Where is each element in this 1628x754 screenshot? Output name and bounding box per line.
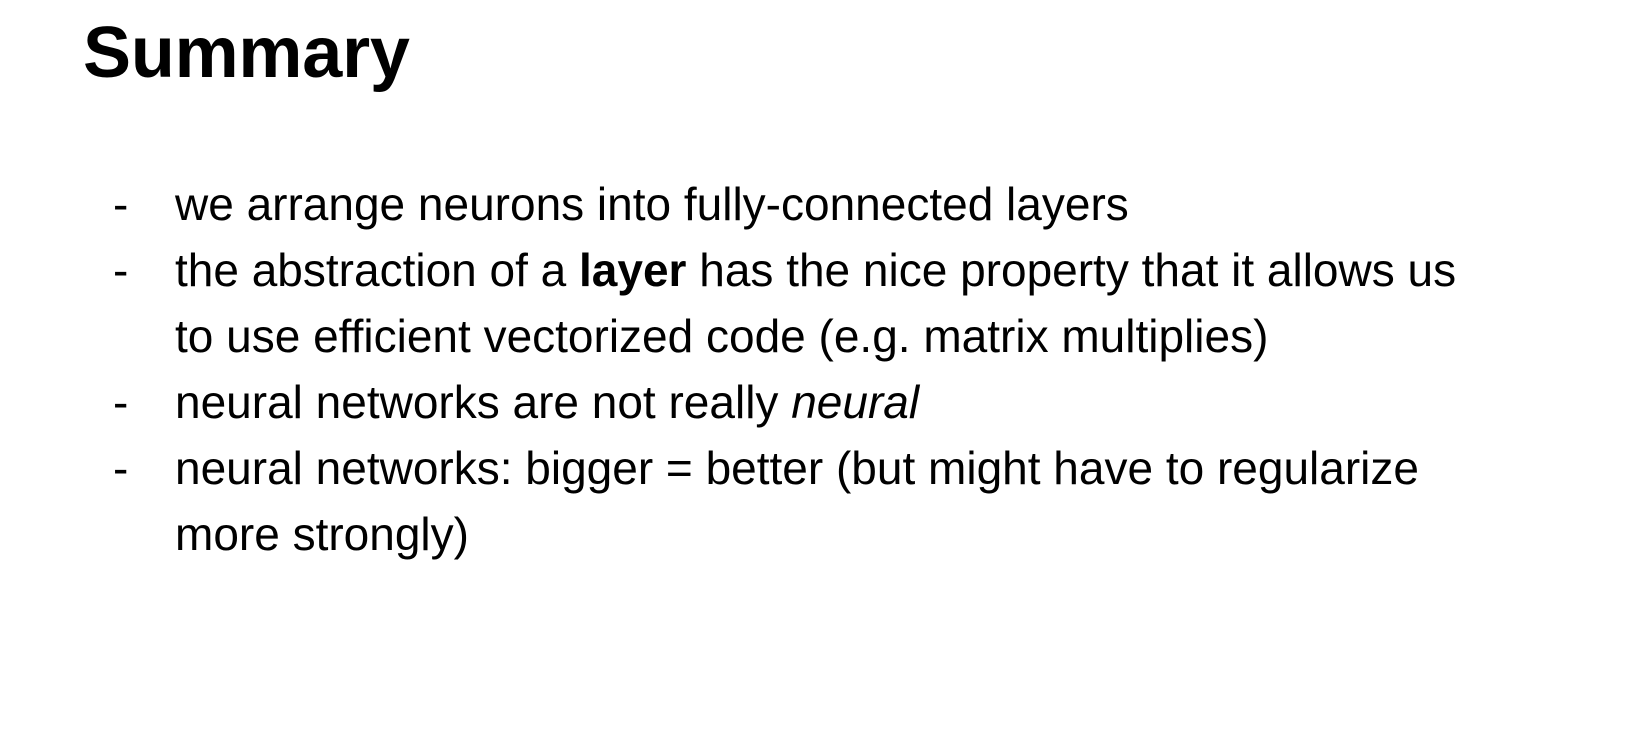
list-item-text: the abstraction of a layer has the nice … [175, 237, 1500, 369]
plain-text: neural networks: bigger = better (but mi… [175, 442, 1419, 560]
plain-text: neural networks are not really [175, 376, 791, 428]
list-item: -neural networks are not really neural [0, 369, 1500, 435]
bullet-dash-icon: - [113, 171, 153, 237]
emphasis-bold-text: layer [579, 244, 686, 296]
plain-text: we arrange neurons into fully-connected … [175, 178, 1129, 230]
bullet-dash-icon: - [113, 237, 153, 303]
list-item: -we arrange neurons into fully-connected… [0, 171, 1500, 237]
page-title: Summary [83, 17, 410, 89]
slide-root: Summary -we arrange neurons into fully-c… [0, 0, 1628, 754]
bullet-dash-icon: - [113, 435, 153, 501]
list-item-text: neural networks: bigger = better (but mi… [175, 435, 1500, 567]
plain-text: the abstraction of a [175, 244, 579, 296]
list-item: -neural networks: bigger = better (but m… [0, 435, 1500, 567]
list-item-text: neural networks are not really neural [175, 369, 1500, 435]
bullet-dash-icon: - [113, 369, 153, 435]
list-item-text: we arrange neurons into fully-connected … [175, 171, 1500, 237]
emphasis-italic-text: neural [791, 376, 919, 428]
summary-bullet-list: -we arrange neurons into fully-connected… [0, 171, 1500, 567]
list-item: -the abstraction of a layer has the nice… [0, 237, 1500, 369]
